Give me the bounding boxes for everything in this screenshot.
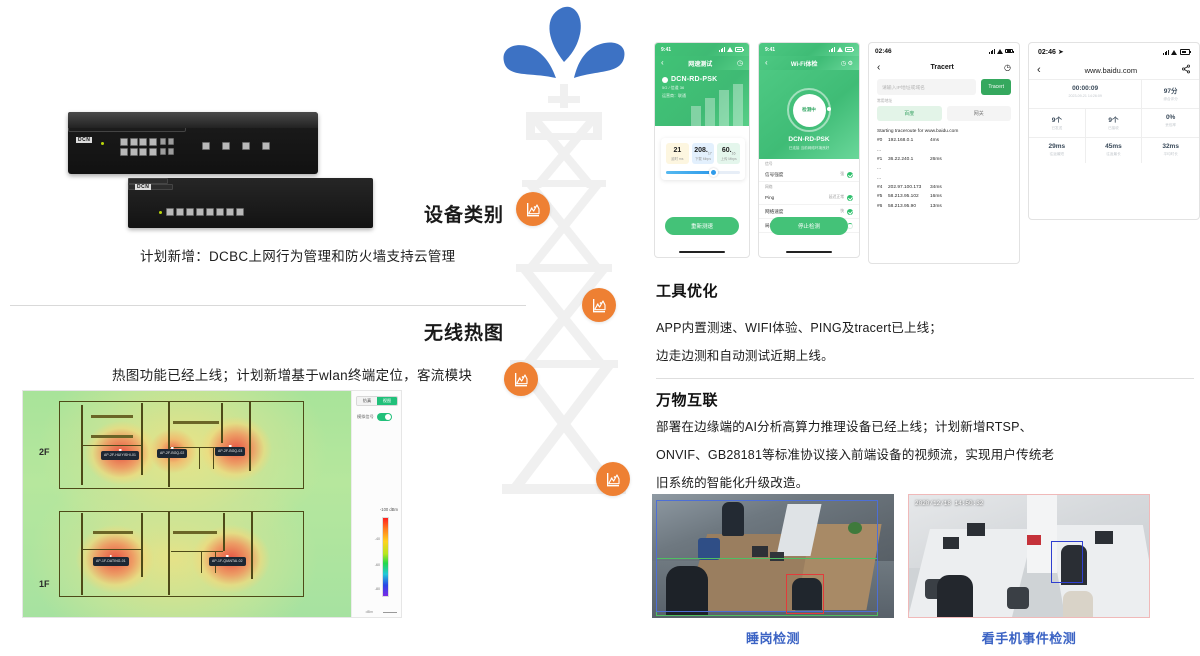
tracert-hop-row: ...: [877, 164, 1011, 173]
ap-marker-5[interactable]: AP-1F-QIANTAI-02: [209, 557, 246, 566]
row-value: 强: [840, 172, 844, 177]
battery-icon: [1005, 49, 1013, 54]
section-text-tools-line2: 边走边测和自动测试近期上线。: [656, 344, 834, 368]
slider-handle[interactable]: [709, 168, 718, 177]
home-indicator: [786, 251, 832, 253]
ping-cell-loss: 0% 丢包率: [1142, 109, 1199, 138]
statusbar-ping-result: 02:46 ➤: [1029, 43, 1199, 61]
navbar-wifi-check: ‹ Wi-Fi体检 ◷ ⚙: [759, 56, 859, 70]
cell-label: 已接收: [1086, 126, 1142, 131]
status-icons: [829, 47, 853, 52]
scale-tick-60: -60: [375, 563, 380, 567]
back-icon[interactable]: ‹: [1037, 65, 1041, 76]
simulated-signal-row[interactable]: 模拟信号: [357, 413, 392, 421]
tower-badge-3[interactable]: [504, 362, 538, 396]
phone-screenshot-tracert[interactable]: 02:46 ‹ Tracert ◷ 请输入IP地址或域名 Tracert 常用地…: [868, 42, 1020, 264]
phone-screenshot-ping-result[interactable]: 02:46 ➤ ‹ www.baidu.com: [1028, 42, 1200, 220]
check-ok-icon: [847, 195, 853, 201]
row-label: 网络速度: [765, 209, 783, 215]
tower-svg: [486, 0, 646, 520]
wall-1f-6: [81, 549, 141, 550]
statusbar-wifi-check: 9:41: [759, 43, 859, 56]
back-icon[interactable]: ‹: [765, 59, 768, 67]
wifi-icon: [837, 47, 843, 52]
wall-2f-5: [249, 401, 251, 471]
status-led: [101, 142, 104, 145]
stat-upload-value: 60.16: [717, 147, 740, 155]
toggle-option-view[interactable]: 视图: [377, 397, 397, 405]
row-value: 延迟正常: [829, 195, 844, 200]
camera-caption-2: 看手机事件检测: [908, 628, 1150, 647]
wall-1f-5: [251, 511, 253, 579]
speedtest-stats-card: 21 延时 ms 208.17 下载 Mbps 60.16 上传 Mbps: [661, 138, 745, 180]
divider-right: [656, 378, 1194, 379]
quick-tab-gateway[interactable]: 网关: [947, 106, 1012, 121]
connected-ssid: DCN-RD-PSK: [671, 76, 717, 83]
status-time: 9:41: [661, 47, 671, 53]
statusbar-speedtest: 9:41: [655, 43, 749, 56]
cam2-person-bottom: [1063, 591, 1093, 617]
navbar-title: Wi-Fi体检: [791, 59, 818, 68]
row-right: 延迟正常: [829, 195, 853, 201]
scale-tick-40: -40: [375, 537, 380, 541]
speedtest-hero: DCN-RD-PSK 5G / 信道 36 运营商：联通: [655, 70, 749, 126]
ap-marker-4[interactable]: AP-1F-DATING-01: [93, 557, 129, 566]
tracert-output-header: Starting traceroute for www.baidu.com: [877, 127, 1011, 136]
slider-fill: [666, 171, 712, 174]
status-icons: [989, 49, 1013, 54]
slide-root: DCN DCN: [0, 0, 1200, 656]
retest-button[interactable]: 重新测速: [665, 217, 739, 235]
ping-cell-max-rtt: 45ms 往返最长: [1086, 138, 1143, 163]
cell-label: 丢包率: [1142, 123, 1199, 128]
heatmap-desc-text: 热图功能已经上线；计划新增基于wlan终端定位，客流模块: [112, 368, 472, 383]
chart-analytics-icon: [605, 471, 621, 487]
wall-1f-1: [81, 513, 83, 595]
scan-progress-ring: 检测中: [787, 88, 831, 132]
wifi-icon: [1171, 49, 1178, 55]
home-indicator: [679, 251, 725, 253]
heatmap-canvas[interactable]: 2F 1F AP-2F-HUIYISHI-01 AP-2F-BGQ-02 AP-…: [23, 391, 353, 618]
cellular-bars-icon: [719, 47, 725, 52]
table-1f-1: [93, 531, 133, 534]
wall-2f-4: [221, 403, 223, 443]
wall-1f-3: [168, 511, 170, 595]
cam2-monitor-3: [1095, 531, 1113, 544]
cell-label: 2023-09-21 14:26:09: [1029, 94, 1141, 98]
floorplan-1f: [59, 511, 304, 597]
wifi-icon: [727, 47, 733, 52]
detection-box-phone-usage: [1051, 541, 1083, 583]
status-time: 9:41: [765, 47, 775, 53]
cell-label: 综合评分: [1142, 97, 1199, 102]
tower-badge-1[interactable]: [516, 192, 550, 226]
wall-1f-4: [223, 513, 225, 551]
section-title-tools: 工具优化: [656, 280, 718, 301]
distance-scalebar-icon: [383, 612, 397, 613]
stat-upload: 60.16 上传 Mbps: [717, 143, 740, 164]
wifi-icon: [997, 49, 1003, 54]
wifi-signal-icon: [662, 77, 668, 83]
scale-unit-label: dBm: [366, 610, 373, 614]
battery-icon: [735, 47, 743, 52]
switch-sfp-ports: [160, 138, 174, 145]
camera-caption-1: 睡岗检测: [652, 628, 894, 647]
row-right: 快: [840, 209, 853, 215]
wall-2f-8: [199, 447, 200, 469]
signal-color-scale: [382, 517, 389, 597]
section-text-iot-line1: 部署在边缘端的AI分析高算力推理设备已经上线；计划新增RTSP、: [656, 415, 1032, 439]
status-led-2: [159, 211, 162, 214]
ap-marker-3[interactable]: AP-2F-BGQ-03: [215, 447, 245, 456]
section-text-wireless-heatmap: 热图功能已经上线；计划新增基于wlan终端定位，客流模块: [112, 364, 472, 384]
back-icon[interactable]: ‹: [877, 63, 880, 73]
section-text-device-category: 计划新增：DCBC上网行为管理和防火墙支持云管理: [140, 245, 455, 265]
ping-cell-sent: 9个 已发送: [1029, 109, 1086, 138]
tracert-target-input[interactable]: 请输入IP地址或域名: [877, 79, 976, 95]
battery-icon: [845, 47, 853, 52]
tracert-hop-row: #658.213.95.9013ms: [877, 202, 1011, 211]
speedtest-progress-slider[interactable]: [666, 171, 740, 174]
hero-ssid: DCN-RD-PSK: [759, 136, 859, 143]
simulated-signal-switch[interactable]: [377, 413, 392, 421]
stat-download: 208.17 下载 Mbps: [692, 143, 715, 164]
detection-box-alert-red: [786, 574, 824, 614]
cell-value: 0%: [1142, 114, 1199, 121]
navbar-ping-result: ‹ www.baidu.com: [1029, 61, 1199, 79]
statusbar-tracert: 02:46: [869, 43, 1019, 59]
wall-2f-3: [168, 401, 170, 487]
camera-snapshot-sleeping-detection[interactable]: [652, 494, 894, 618]
switch2-ports: [166, 208, 244, 216]
cellular-bars-icon: [1163, 49, 1169, 55]
wall-1f-8: [201, 551, 202, 573]
navbar-speedtest: ‹ 网速测试 ◷: [655, 56, 749, 70]
battery-icon: [1180, 49, 1190, 55]
history-icon[interactable]: ◷: [737, 59, 743, 67]
back-icon[interactable]: ‹: [661, 59, 664, 67]
table-2f-2: [91, 435, 133, 438]
stat-latency: 21 延时 ms: [666, 143, 689, 164]
cell-value: 9个: [1086, 114, 1142, 124]
cell-label: 平均时长: [1142, 152, 1199, 157]
cell-value: 29ms: [1029, 143, 1085, 150]
heatmap-sidebar: 仿真 视图 模拟信号 -100 dBm -40 -60 -80 dBm: [351, 391, 401, 617]
hero-ssid-sub: 已连接 当前网络环境良好: [759, 146, 859, 151]
table-2f-1: [91, 415, 133, 418]
row-label: Ping: [765, 195, 774, 200]
phone-screenshot-wifi-check[interactable]: 9:41 ‹ Wi-Fi体检 ◷ ⚙ 检测中 DCN-RD-PSK 已连接 当前…: [758, 42, 860, 258]
cam2-redbox-object: [1027, 535, 1041, 545]
simulated-signal-label: 模拟信号: [357, 414, 374, 420]
tracert-hop-row: #4202.97.100.17334ms: [877, 183, 1011, 192]
signal-petal-right: [574, 43, 625, 78]
cam2-monitor-1: [967, 523, 985, 536]
table-2f-3: [173, 421, 219, 424]
ping-cell-received: 9个 已接收: [1086, 109, 1143, 138]
cell-label: 往返最短: [1029, 152, 1085, 157]
chart-analytics-icon: [591, 297, 607, 313]
scan-status-text: 检测中: [793, 94, 826, 127]
wall-2f-2: [141, 403, 143, 475]
navbar-title: 网速测试: [688, 59, 712, 68]
status-time-row: 02:46 ➤: [1038, 48, 1064, 56]
cam2-chair-2: [1007, 587, 1029, 609]
status-icons: [1163, 49, 1190, 55]
tracert-hop-row: #136.22.240.126ms: [877, 155, 1011, 164]
quick-address-label: 常用地址: [869, 95, 1019, 106]
section-text-iot-line2: ONVIF、GB28181等标准协议接入前端设备的视频流，实现用户传统老: [656, 443, 1054, 467]
cam2-person-left: [937, 575, 973, 617]
status-icons: [719, 47, 743, 52]
stat-download-label: 下载 Mbps: [692, 156, 715, 161]
ping-cell-score: 97分 综合评分: [1142, 80, 1199, 109]
section-text-iot-line3: 旧系统的智能化升级改造。: [656, 471, 808, 495]
tracert-quick-tabs: 百度 网关: [869, 106, 1019, 121]
tracert-run-button[interactable]: Tracert: [981, 79, 1011, 95]
signal-petal-top: [549, 7, 580, 62]
stat-latency-value: 21: [666, 147, 689, 155]
ping-cell-duration: 00:00:09 2023-09-21 14:26:09: [1029, 80, 1142, 109]
status-time: 02:46: [1038, 49, 1056, 56]
floor-label-1f: 1F: [39, 579, 50, 589]
device-brand-label: DCN: [76, 137, 92, 143]
status-time: 02:46: [875, 48, 892, 55]
tower-structure: [502, 84, 626, 494]
tracert-hop-row: ...: [877, 146, 1011, 155]
navbar-title: Tracert: [931, 64, 954, 71]
history-icon[interactable]: ◷: [1004, 63, 1011, 72]
switch-module-slot: [68, 112, 186, 132]
navbar-tracert: ‹ Tracert ◷: [869, 59, 1019, 76]
left-column: DCN DCN: [0, 0, 540, 656]
ping-cell-min-rtt: 29ms 往返最短: [1029, 138, 1086, 163]
cellular-bars-icon: [829, 47, 835, 52]
check-row-ping: Ping 延迟正常: [759, 191, 859, 205]
cam2-monitor-2: [943, 537, 959, 549]
stat-upload-label: 上传 Mbps: [717, 156, 740, 161]
share-icon[interactable]: [1181, 64, 1191, 76]
right-column: 9:41 ‹ 网速测试 ◷ DCN-RD-PSK 5G / 信道 36 运营商：…: [646, 0, 1200, 656]
tracert-hop-row: #0192.168.0.14ms: [877, 136, 1011, 145]
tracert-input-row: 请输入IP地址或域名 Tracert: [869, 76, 1019, 95]
ping-summary-grid: 00:00:09 2023-09-21 14:26:09 97分 综合评分 9个…: [1029, 79, 1199, 163]
phone-screenshot-speedtest[interactable]: 9:41 ‹ 网速测试 ◷ DCN-RD-PSK 5G / 信道 36 运营商：…: [654, 42, 750, 258]
tower-badge-2[interactable]: [582, 288, 616, 322]
switch-ports-group-b: [120, 148, 157, 156]
switch-ports-group-a: [120, 138, 157, 146]
camera-timestamp-overlay: 2020/12/18 14:50:32: [915, 500, 983, 507]
ping-cell-avg-rtt: 32ms 平均时长: [1142, 138, 1199, 163]
floor-label-2f: 2F: [39, 447, 50, 457]
camera-snapshot-phone-usage-detection[interactable]: 2020/12/18 14:50:32: [908, 494, 1150, 618]
cell-value: 97分: [1142, 85, 1199, 95]
wifi-check-hero: 检测中 DCN-RD-PSK 已连接 当前网络环境良好: [759, 70, 859, 159]
scale-tick-80: -80: [375, 587, 380, 591]
device-brand-label-2: DCN: [135, 184, 151, 190]
stat-latency-label: 延时 ms: [666, 156, 689, 161]
divider-left: [10, 305, 526, 306]
ap-marker-2[interactable]: AP-2F-BGQ-02: [157, 449, 187, 458]
tracert-hop-row: ...: [877, 174, 1011, 183]
navbar-actions[interactable]: ◷ ⚙: [841, 60, 853, 67]
section-title-iot: 万物互联: [656, 389, 718, 410]
heatmap-scalebar-footer: dBm: [366, 610, 397, 614]
chart-analytics-icon: [525, 201, 541, 217]
scale-top-label: -100 dBm: [380, 507, 398, 512]
wall-1f-2: [141, 513, 143, 577]
cell-label: 已发送: [1029, 126, 1085, 131]
cell-value: 32ms: [1142, 143, 1199, 150]
check-row-signal-strength: 信号强度 强: [759, 168, 859, 182]
cell-label: 往返最长: [1086, 152, 1142, 157]
cell-tower-graphic: [486, 0, 646, 520]
tracert-output: Starting traceroute for www.baidu.com #0…: [869, 121, 1019, 211]
check-section-network-label: 网络: [759, 182, 859, 191]
check-ok-icon: [847, 172, 853, 178]
tower-badge-4[interactable]: [596, 462, 630, 496]
tracert-hop-row: #558.213.95.10216ms: [877, 192, 1011, 201]
wall-2f-6: [81, 445, 141, 446]
table-1f-2: [173, 531, 217, 534]
switch-module-ports: [202, 142, 270, 150]
row-value: 快: [840, 209, 844, 214]
detection-box-blue: [656, 500, 878, 612]
chart-analytics-icon: [513, 371, 529, 387]
check-ok-icon: [847, 209, 853, 215]
ap-marker-1[interactable]: AP-2F-HUIYISHI-01: [101, 451, 139, 460]
signal-petal-left: [503, 45, 556, 78]
quick-tab-baidu[interactable]: 百度: [877, 106, 942, 121]
wireless-heatmap-panel[interactable]: 2F 1F AP-2F-HUIYISHI-01 AP-2F-BGQ-02 AP-…: [22, 390, 402, 618]
toggle-option-simulation[interactable]: 仿真: [357, 397, 377, 405]
hero-bars-decoration: [689, 84, 749, 126]
network-switch-photo-bottom: DCN: [128, 178, 373, 228]
section-text-tools-line1: APP内置测速、WIFI体验、PING及tracert已上线；: [656, 316, 942, 340]
row-label: 信号强度: [765, 172, 783, 178]
row-right: 强: [840, 172, 853, 178]
switch-sfp-ports-2: [160, 148, 174, 155]
cellular-bars-icon: [989, 49, 995, 54]
heatmap-view-toggle[interactable]: 仿真 视图: [356, 396, 398, 406]
stop-check-button[interactable]: 停止检测: [770, 217, 848, 235]
stat-download-value: 208.17: [692, 147, 715, 155]
cell-value: 9个: [1029, 114, 1085, 124]
cell-value: 00:00:09: [1029, 85, 1141, 92]
navbar-title: www.baidu.com: [1085, 66, 1138, 75]
cell-value: 45ms: [1086, 143, 1142, 150]
location-arrow-icon: ➤: [1058, 49, 1064, 56]
check-section-signal-label: 信号: [759, 159, 859, 168]
network-switch-photo-top: DCN: [68, 112, 318, 174]
